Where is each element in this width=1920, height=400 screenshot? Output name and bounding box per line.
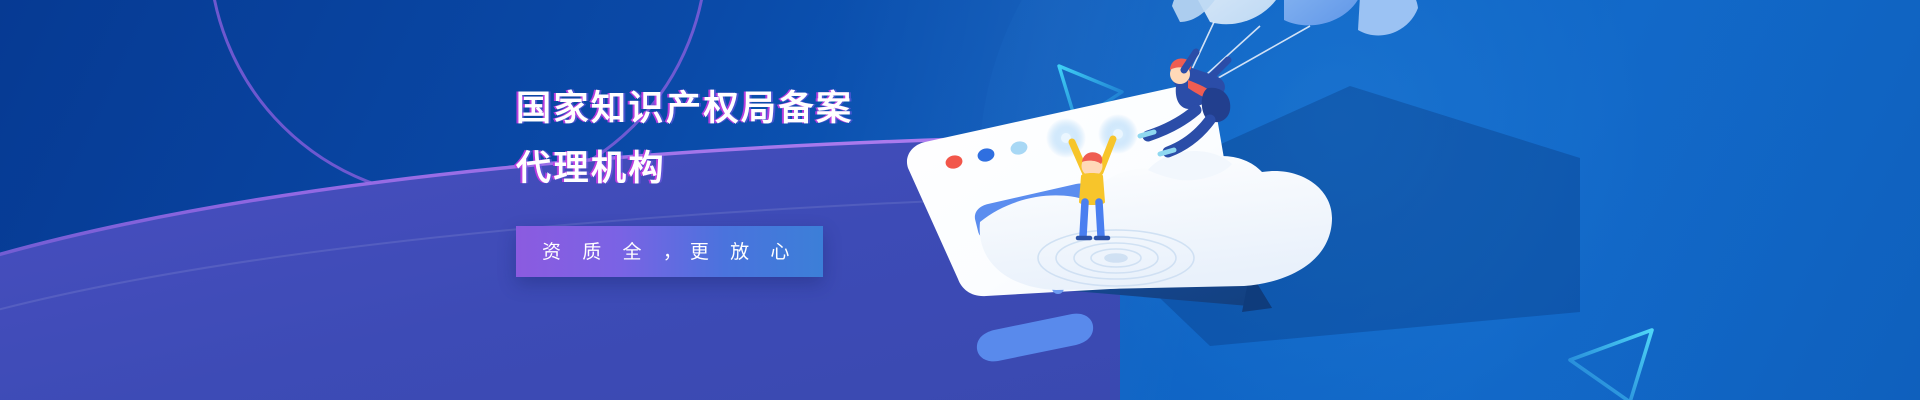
ripple-rings xyxy=(1038,230,1194,286)
hero-illustration xyxy=(880,0,1920,400)
spark-right-icon xyxy=(1098,114,1138,154)
spark-left-icon xyxy=(1046,118,1086,158)
dot-red-icon xyxy=(944,154,963,170)
card-small-dots xyxy=(1052,274,1112,294)
headline-line-1: 国家知识产权局备案 xyxy=(516,82,936,136)
dot-lightblue-icon xyxy=(1009,140,1028,156)
background-diagonal-sheen xyxy=(0,0,1920,400)
card-pill xyxy=(977,314,1093,362)
cyan-triangle-outline-top xyxy=(1054,60,1126,132)
window-dots-group xyxy=(944,140,1028,170)
dot-blue-icon xyxy=(976,147,995,163)
parachuting-person xyxy=(1140,0,1418,154)
card-shadow xyxy=(1070,86,1580,346)
card-side xyxy=(940,182,1272,312)
tilted-browser-card xyxy=(907,85,1241,296)
headline-line-2: 代理机构 xyxy=(516,142,936,196)
parachute-canopy xyxy=(1172,0,1418,35)
background-glow xyxy=(980,0,1880,400)
card-content-bars xyxy=(975,183,1135,277)
tagline-badge[interactable]: 资 质 全 ，更 放 心 xyxy=(516,226,823,277)
cloud-stage xyxy=(980,151,1332,290)
banner-copy: 国家知识产权局备案 代理机构 资 质 全 ，更 放 心 xyxy=(516,82,936,277)
cyan-triangle-outline-bottom xyxy=(1560,326,1656,400)
celebrating-person xyxy=(1046,114,1138,238)
promo-banner: 国家知识产权局备案 代理机构 资 质 全 ，更 放 心 xyxy=(0,0,1920,400)
